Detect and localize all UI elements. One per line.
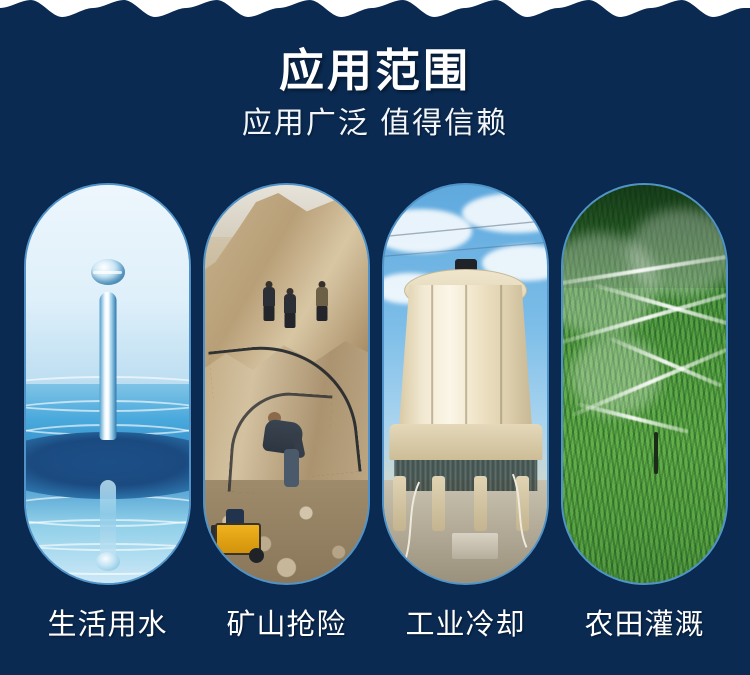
cooling-tower-image <box>384 185 547 583</box>
caption-row: 生活用水 矿山抢险 工业冷却 农田灌溉 <box>24 603 730 653</box>
caption-domestic-water: 生活用水 <box>24 603 191 647</box>
wave-top-decoration <box>0 0 750 26</box>
panel-row <box>24 183 730 585</box>
panel-item-domestic-water[interactable] <box>24 183 191 585</box>
caption-mine-rescue: 矿山抢险 <box>203 603 370 647</box>
header-block: 应用范围 应用广泛 值得信赖 <box>0 44 750 143</box>
panel-item-industrial-cooling[interactable] <box>382 183 549 585</box>
caption-industrial-cooling: 工业冷却 <box>382 603 549 647</box>
application-scope-banner: 应用范围 应用广泛 值得信赖 <box>0 0 750 675</box>
page-subtitle: 应用广泛 值得信赖 <box>0 104 750 143</box>
page-title: 应用范围 <box>0 44 750 97</box>
mine-rescue-image <box>205 185 368 583</box>
water-droplet-image <box>26 185 189 583</box>
panel-item-mine-rescue[interactable] <box>203 183 370 585</box>
panel-item-farm-irrigation[interactable] <box>561 183 728 585</box>
caption-farm-irrigation: 农田灌溉 <box>561 603 728 647</box>
irrigation-image <box>563 185 726 583</box>
